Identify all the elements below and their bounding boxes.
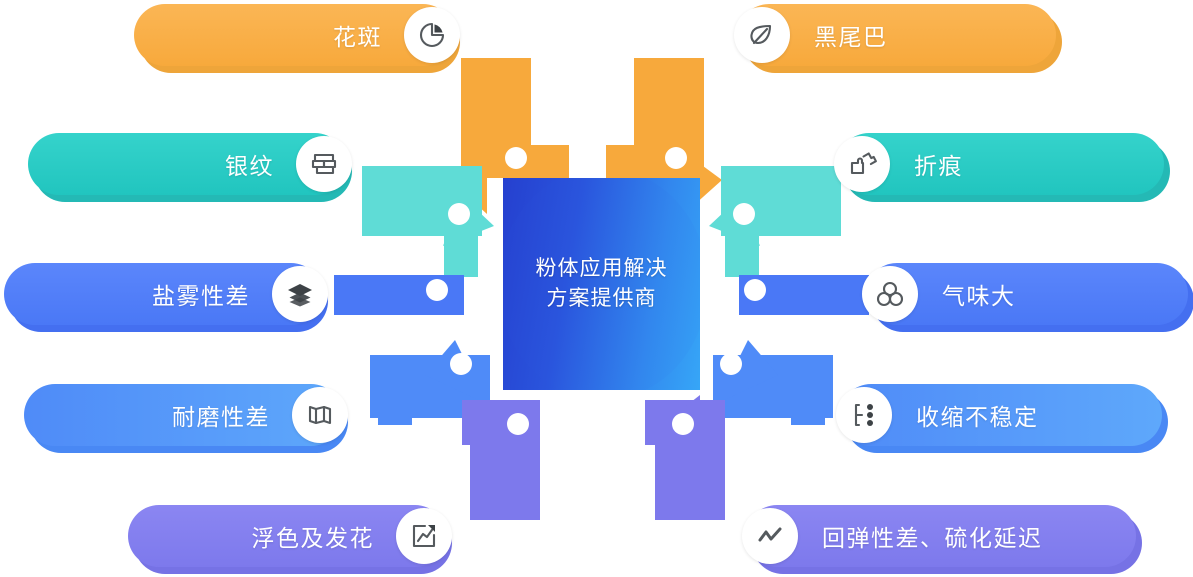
node-qi-wei-da[interactable]: 气味大 xyxy=(866,263,1188,325)
hub-title: 粉体应用解决 方案提供商 xyxy=(503,178,700,390)
infographic-canvas: 粉体应用解决 方案提供商 花斑 黑尾巴 银纹 xyxy=(0,0,1193,577)
node-label: 折痕 xyxy=(914,133,963,195)
connector-qi-wei xyxy=(739,275,869,315)
node-label: 黑尾巴 xyxy=(814,4,888,66)
node-label: 耐磨性差 xyxy=(172,384,270,446)
node-label: 气味大 xyxy=(942,263,1016,325)
connector-yin-wen xyxy=(362,166,494,277)
pie-chart-icon xyxy=(404,7,460,63)
node-yan-wu-xing-cha[interactable]: 盐雾性差 xyxy=(4,263,322,325)
connector-yan-wu xyxy=(334,275,464,315)
connector-hui-tan xyxy=(645,395,725,520)
node-zhe-hen[interactable]: 折痕 xyxy=(838,133,1164,195)
open-book-icon xyxy=(292,387,348,443)
puzzle-icon xyxy=(834,136,890,192)
connector-zhe-hen xyxy=(709,166,841,277)
connector-fu-se xyxy=(462,400,540,520)
recycle-icon xyxy=(862,266,918,322)
trend-up-icon xyxy=(396,508,452,564)
node-nai-mo-xing-cha[interactable]: 耐磨性差 xyxy=(24,384,342,446)
node-fu-se-ji-fa-hua[interactable]: 浮色及发花 xyxy=(128,505,446,567)
node-label: 回弹性差、硫化延迟 xyxy=(822,505,1043,567)
node-hei-wei-ba[interactable]: 黑尾巴 xyxy=(738,4,1056,66)
node-hua-ban[interactable]: 花斑 xyxy=(134,4,454,66)
connector-shou-suo xyxy=(713,340,833,425)
node-label: 盐雾性差 xyxy=(152,263,250,325)
node-label: 花斑 xyxy=(333,4,382,66)
sitemap-icon xyxy=(836,387,892,443)
line-chart-icon xyxy=(742,508,798,564)
brick-wall-icon xyxy=(296,136,352,192)
leaf-icon xyxy=(734,7,790,63)
node-yin-wen[interactable]: 银纹 xyxy=(28,133,346,195)
center-hub: 粉体应用解决 方案提供商 xyxy=(503,178,700,390)
node-label: 收缩不稳定 xyxy=(916,384,1039,446)
node-label: 浮色及发花 xyxy=(252,505,375,567)
node-label: 银纹 xyxy=(225,133,274,195)
hub-title-line2: 方案提供商 xyxy=(547,284,657,314)
node-shou-suo-bu-wen-ding[interactable]: 收缩不稳定 xyxy=(840,384,1162,446)
layers-icon xyxy=(272,266,328,322)
hub-title-line1: 粉体应用解决 xyxy=(536,254,668,284)
node-hui-tan-xing-cha[interactable]: 回弹性差、硫化延迟 xyxy=(746,505,1136,567)
